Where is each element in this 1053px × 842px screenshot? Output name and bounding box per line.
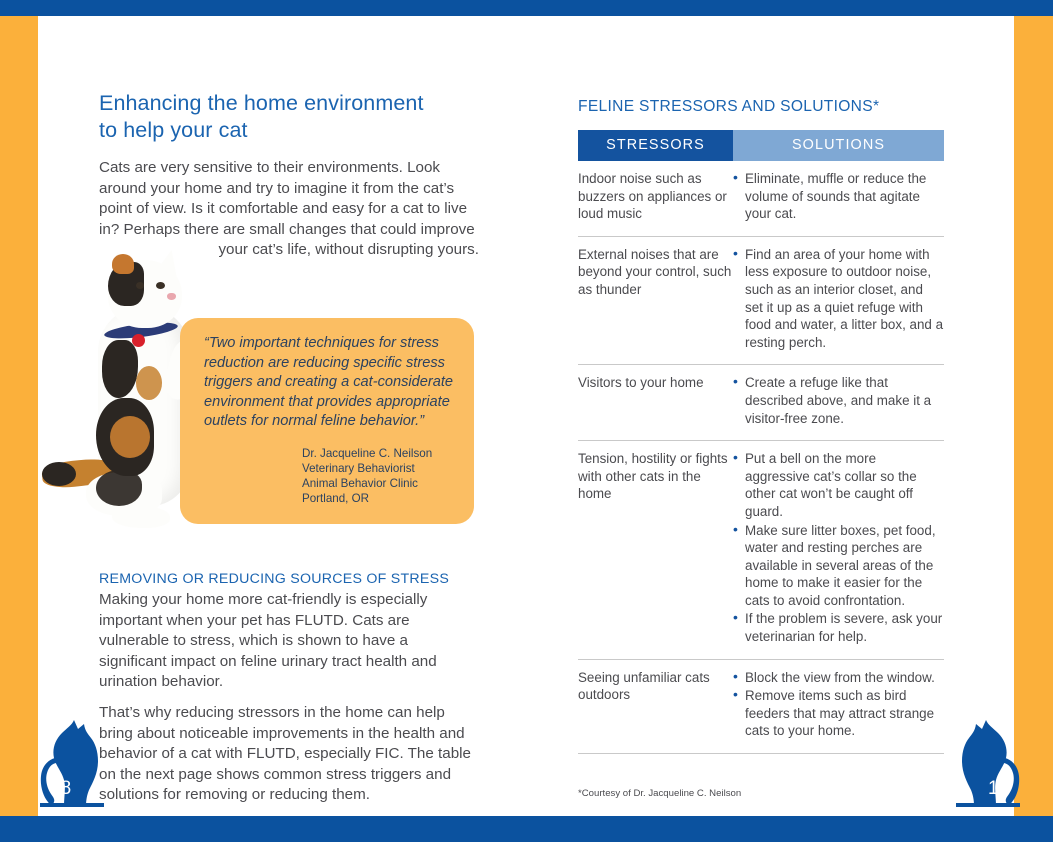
column-header-solutions: SOLUTIONS — [733, 130, 944, 161]
solution-item: If the problem is severe, ask your veter… — [733, 610, 944, 645]
intro-paragraph: Cats are very sensitive to their environ… — [99, 158, 479, 261]
quote-attribution: Dr. Jacqueline C. Neilson Veterinary Beh… — [204, 446, 454, 506]
table-header-row: STRESSORS SOLUTIONS — [578, 130, 944, 161]
section-paragraph-1: Making your home more cat-friendly is es… — [99, 590, 479, 693]
cell-stressor: Indoor noise such as buzzers on applianc… — [578, 161, 733, 236]
cat-nose — [167, 293, 176, 300]
page-title-line1: Enhancing the home environment — [99, 91, 424, 115]
section-heading: REMOVING OR REDUCING SOURCES OF STRESS — [99, 571, 479, 587]
cat-chest-patch-orange — [136, 366, 162, 400]
cell-stressor: External noises that are beyond your con… — [578, 236, 733, 365]
intro-line-2: around your home and try to imagine it f… — [99, 180, 454, 197]
table-row: Seeing unfamiliar cats outdoorsBlock the… — [578, 659, 944, 753]
cell-solutions: Put a bell on the more aggressive cat’s … — [733, 441, 944, 660]
cat-foot-shape — [112, 506, 170, 528]
solution-item: Put a bell on the more aggressive cat’s … — [733, 450, 944, 520]
left-orange-strip — [0, 16, 38, 816]
cell-solutions: Create a refuge like that described abov… — [733, 365, 944, 441]
quote-attr-location: Portland, OR — [302, 491, 454, 506]
cat-eye-left — [136, 282, 144, 289]
page-title: Enhancing the home environment to help y… — [99, 90, 479, 144]
cat-body-patch-orange — [110, 416, 150, 458]
cell-solutions: Eliminate, muffle or reduce the volume o… — [733, 161, 944, 236]
solution-item: Create a refuge like that described abov… — [733, 374, 944, 427]
table-row: Visitors to your homeCreate a refuge lik… — [578, 365, 944, 441]
cat-head-patch-orange — [112, 254, 134, 274]
quote-attr-org: Animal Behavior Clinic — [302, 476, 454, 491]
solution-item: Remove items such as bird feeders that m… — [733, 687, 944, 740]
cat-silhouette-left — [22, 718, 122, 814]
table-body: Indoor noise such as buzzers on applianc… — [578, 161, 944, 754]
stressors-solutions-table: STRESSORS SOLUTIONS Indoor noise such as… — [578, 130, 944, 754]
solution-item: Make sure litter boxes, pet food, water … — [733, 522, 944, 610]
quote-text: “Two important techniques for stress red… — [204, 334, 454, 432]
intro-line-3: point of view. Is it comfortable and eas… — [99, 200, 467, 217]
solution-item: Block the view from the window. — [733, 669, 944, 687]
column-header-stressors: STRESSORS — [578, 130, 733, 161]
table-row: Indoor noise such as buzzers on applianc… — [578, 161, 944, 236]
intro-line-1: Cats are very sensitive to their environ… — [99, 159, 440, 176]
cell-stressor: Visitors to your home — [578, 365, 733, 441]
page-number-right: 19 — [988, 778, 1009, 800]
page-title-line2: to help your cat — [99, 118, 248, 142]
solution-item: Find an area of your home with less expo… — [733, 246, 944, 352]
spread-page: Enhancing the home environment to help y… — [0, 0, 1053, 842]
quote-attr-role: Veterinary Behaviorist — [302, 461, 454, 476]
bottom-blue-bar — [0, 816, 1053, 842]
table-row: Tension, hostility or fights with other … — [578, 441, 944, 660]
solution-list: Create a refuge like that described abov… — [733, 374, 944, 427]
solution-item: Eliminate, muffle or reduce the volume o… — [733, 170, 944, 223]
top-blue-bar — [0, 0, 1053, 16]
section-paragraph-2: That’s why reducing stressors in the hom… — [99, 703, 479, 806]
page-number-left: 18 — [50, 778, 71, 800]
solution-list: Eliminate, muffle or reduce the volume o… — [733, 170, 944, 223]
cat-eye-right — [156, 282, 165, 289]
table-title: FELINE STRESSORS AND SOLUTIONS* — [578, 98, 944, 116]
cell-stressor: Tension, hostility or fights with other … — [578, 441, 733, 660]
cell-solutions: Block the view from the window.Remove it… — [733, 659, 944, 753]
table-row: External noises that are beyond your con… — [578, 236, 944, 365]
solution-list: Find an area of your home with less expo… — [733, 246, 944, 352]
table-footnote: *Courtesy of Dr. Jacqueline C. Neilson — [578, 788, 741, 799]
cat-tail-tip-shape — [42, 462, 76, 486]
quote-attr-name: Dr. Jacqueline C. Neilson — [302, 446, 454, 461]
solution-list: Put a bell on the more aggressive cat’s … — [733, 450, 944, 646]
cat-collar-tag — [132, 334, 145, 347]
right-orange-strip — [1014, 16, 1053, 816]
right-page-content: FELINE STRESSORS AND SOLUTIONS* STRESSOR… — [578, 98, 944, 754]
cell-stressor: Seeing unfamiliar cats outdoors — [578, 659, 733, 753]
cell-solutions: Find an area of your home with less expo… — [733, 236, 944, 365]
intro-line-4: in? Perhaps there are small changes that… — [99, 220, 479, 241]
quote-callout-box: “Two important techniques for stress red… — [180, 318, 474, 524]
solution-list: Block the view from the window.Remove it… — [733, 669, 944, 740]
